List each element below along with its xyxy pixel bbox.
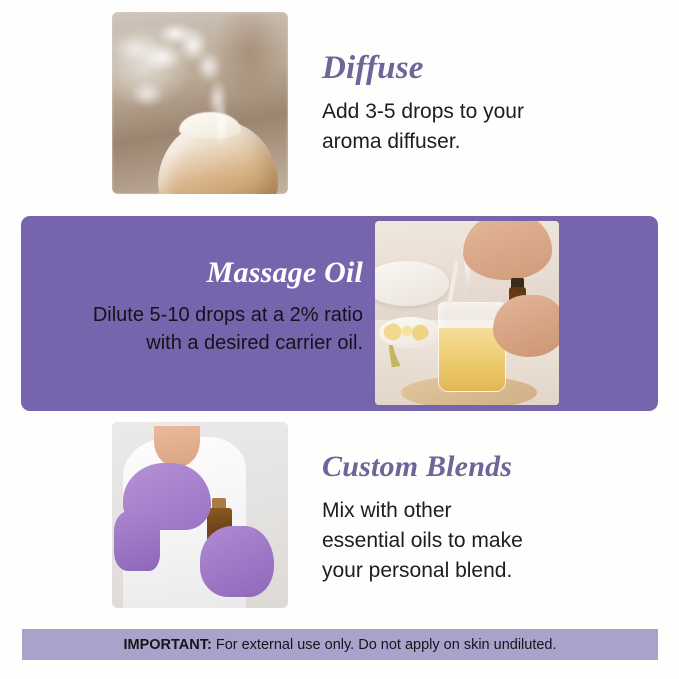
- massage-oil-body-line-2: with a desired carrier oil.: [146, 332, 363, 354]
- hand-lower-icon: [493, 295, 559, 358]
- custom-blends-photo: [112, 422, 288, 608]
- custom-blends-body-line-1: Mix with other: [322, 499, 452, 522]
- important-label: IMPORTANT:: [123, 637, 211, 653]
- diffuse-heading: Diffuse: [322, 52, 642, 85]
- custom-blends-body-line-3: your personal blend.: [322, 559, 512, 582]
- custom-blends-heading: Custom Blends: [322, 452, 652, 482]
- diffuser-photo: [112, 12, 288, 194]
- custom-blends-body: Mix with other essential oils to make yo…: [322, 496, 652, 585]
- diffuse-body-line-1: Add 3-5 drops to your: [322, 100, 524, 123]
- plate-icon: [375, 261, 449, 305]
- custom-blends-body-line-2: essential oils to make: [322, 529, 523, 552]
- massage-oil-body-line-1: Dilute 5-10 drops at a 2% ratio: [93, 304, 363, 326]
- diffuse-body-line-2: aroma diffuser.: [322, 130, 461, 153]
- gloved-hand-lower-icon: [200, 526, 274, 597]
- hand-upper-icon: [463, 221, 551, 280]
- massage-oil-body: Dilute 5-10 drops at a 2% ratio with a d…: [33, 302, 363, 357]
- diffuse-text-block: Diffuse Add 3-5 drops to your aroma diff…: [322, 52, 642, 157]
- massage-oil-text-block: Massage Oil Dilute 5-10 drops at a 2% ra…: [33, 258, 363, 357]
- infographic-root: Diffuse Add 3-5 drops to your aroma diff…: [0, 0, 679, 679]
- massage-oil-photo: [375, 221, 559, 405]
- diffuse-body: Add 3-5 drops to your aroma diffuser.: [322, 97, 642, 157]
- massage-oil-heading: Massage Oil: [33, 258, 363, 288]
- important-body: For external use only. Do not apply on s…: [212, 637, 557, 653]
- mist-icon: [112, 12, 288, 194]
- custom-blends-text-block: Custom Blends Mix with other essential o…: [322, 452, 652, 585]
- important-notice-text: IMPORTANT: For external use only. Do not…: [123, 637, 556, 653]
- important-notice-bar: IMPORTANT: For external use only. Do not…: [22, 629, 658, 660]
- gloved-forearm-icon: [114, 511, 160, 571]
